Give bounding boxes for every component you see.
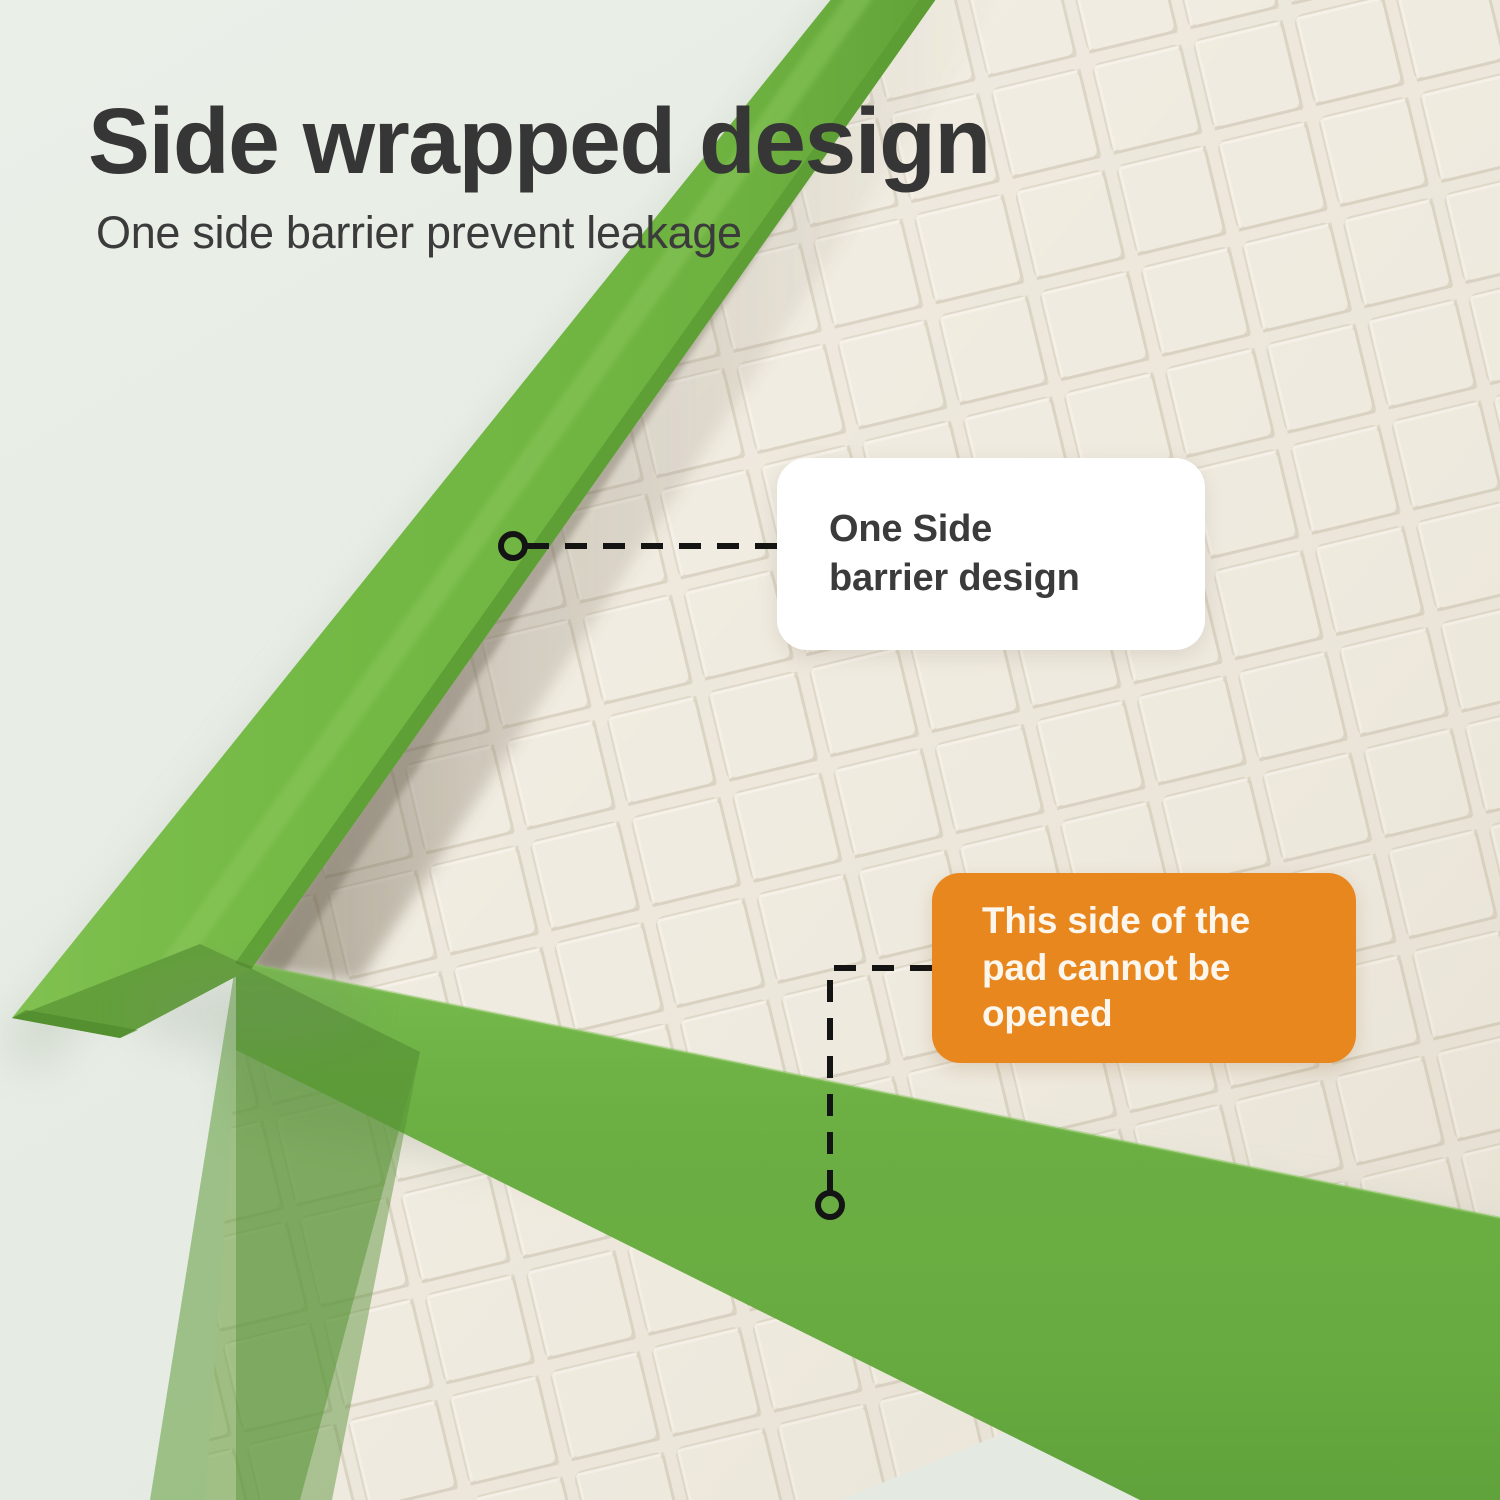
callout-line: barrier design (829, 554, 1153, 603)
callout-line: pad cannot be (982, 945, 1306, 992)
callout-line: opened (982, 991, 1306, 1038)
callout-line: This side of the (982, 898, 1306, 945)
infographic-canvas: Side wrapped design One side barrier pre… (0, 0, 1500, 1500)
callout-line: One Side (829, 505, 1153, 554)
callout-one-side-barrier[interactable]: One Side barrier design (777, 458, 1205, 650)
product-photo (0, 0, 1500, 1500)
callout-cannot-be-opened[interactable]: This side of the pad cannot be opened (932, 873, 1356, 1063)
